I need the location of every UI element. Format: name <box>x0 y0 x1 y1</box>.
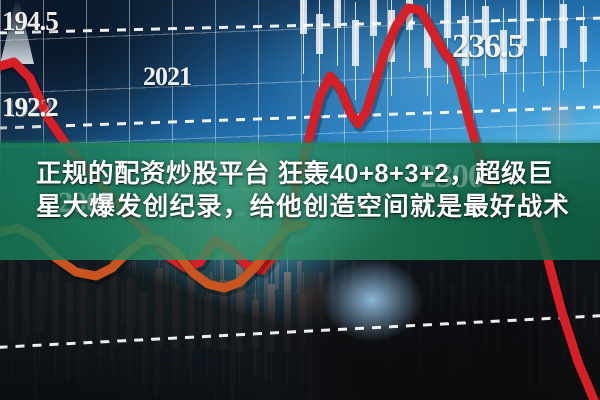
chart-background-numeral: 1922 <box>4 94 52 124</box>
headline-text: 正规的配资炒股平台 狂轰40+8+3+2，超级巨 星大爆发创纪录，给他创造空间就… <box>36 158 574 224</box>
news-thumbnail-image: 194.5192.22021236.5 200523001922 正规的配资炒股… <box>0 0 600 400</box>
chart-axis-value: 2021 <box>143 62 191 92</box>
chart-axis-value: 194.5 <box>2 6 58 37</box>
headline-line-1: 正规的配资炒股平台 狂轰40+8+3+2，超级巨 <box>36 158 574 191</box>
headline-line-2: 星大爆发创纪录，给他创造空间就是最好战术 <box>36 191 574 224</box>
chart-axis-value: 236.5 <box>452 28 524 66</box>
